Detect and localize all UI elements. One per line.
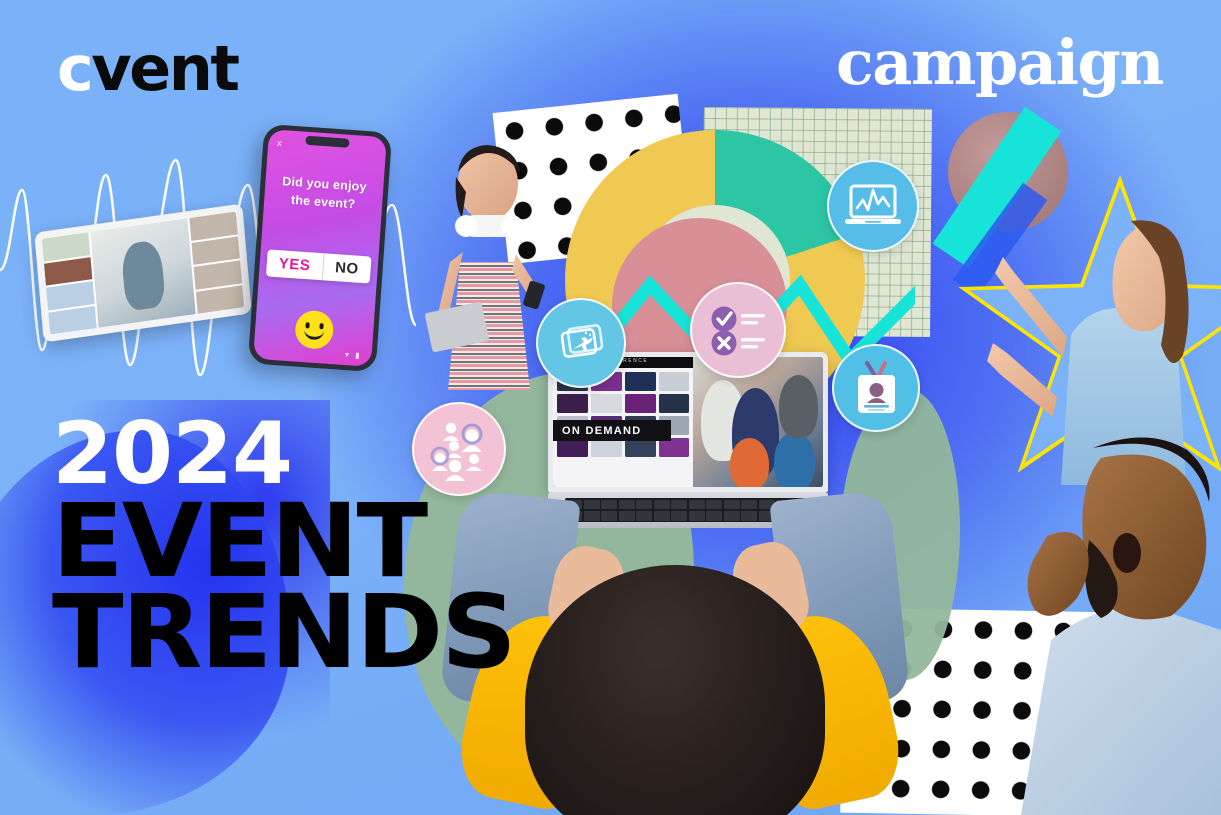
name-badge-icon[interactable] xyxy=(832,344,920,432)
phone-screen: x Did you enjoy the event? YES NO ▾ ▮ xyxy=(253,129,387,367)
survey-choices: YES NO xyxy=(266,249,372,283)
analytics-laptop-icon[interactable] xyxy=(827,160,919,252)
cvent-logo[interactable]: cvent xyxy=(57,38,238,100)
crowd-person xyxy=(779,375,818,437)
page-title: 2024 EVENT TRENDS xyxy=(52,415,501,682)
video-call-participant xyxy=(48,306,96,335)
video-thumbnail[interactable] xyxy=(659,372,690,391)
survey-yes-button[interactable]: YES xyxy=(266,249,323,280)
man-shouting xyxy=(981,420,1221,815)
video-call-participant xyxy=(196,285,244,314)
on-demand-banner: ON DEMAND xyxy=(553,420,671,441)
survey-no-button[interactable]: NO xyxy=(321,253,371,283)
survey-question-line1: Did you enjoy xyxy=(282,174,367,194)
on-demand-label: ON DEMAND xyxy=(562,425,642,437)
video-thumbnail[interactable] xyxy=(625,394,656,413)
headline-line-3: TRENDS xyxy=(52,585,515,682)
video-thumbnail[interactable] xyxy=(591,394,622,413)
smiley-face-icon[interactable] xyxy=(294,310,335,351)
video-call-grid xyxy=(42,211,244,334)
survey-question-line2: the event? xyxy=(291,193,356,211)
video-call-main-speaker xyxy=(90,218,196,327)
survey-question: Did you enjoy the event? xyxy=(264,171,384,215)
phone-survey: x Did you enjoy the event? YES NO ▾ ▮ xyxy=(248,124,392,372)
video-thumbnail[interactable] xyxy=(557,394,588,413)
cvent-logo-vent: vent xyxy=(91,32,237,105)
cvent-logo-c: c xyxy=(57,32,91,105)
phone-status-bar: ▾ ▮ xyxy=(345,350,362,360)
video-thumbnail[interactable] xyxy=(625,372,656,391)
campaign-logo[interactable]: campaign xyxy=(836,32,1163,94)
conference-photo xyxy=(693,357,823,487)
survey-checklist-icon[interactable] xyxy=(690,282,786,378)
crowd-person xyxy=(774,432,815,487)
video-thumbnail[interactable] xyxy=(659,394,690,413)
close-icon[interactable]: x xyxy=(277,138,282,148)
phone-notch xyxy=(305,136,350,148)
poster-canvas: CONFERENCE xyxy=(0,0,1221,815)
crowd-person xyxy=(730,438,769,487)
ticket-airplane-icon[interactable] xyxy=(536,298,626,388)
